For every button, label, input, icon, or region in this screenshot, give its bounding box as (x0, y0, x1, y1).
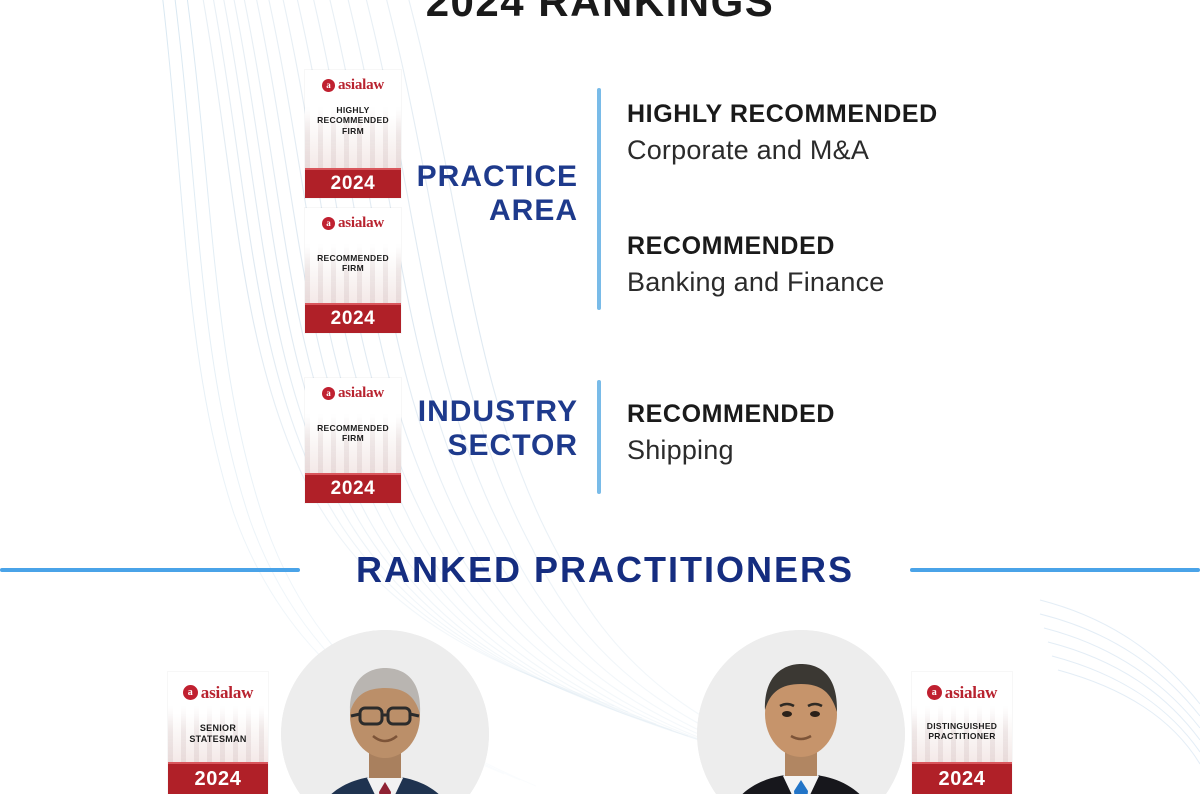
ranking-name: Shipping (627, 434, 835, 466)
asialaw-logo: a asialaw (927, 684, 997, 701)
ranking-entry-corporate-manda: HIGHLY RECOMMENDED Corporate and M&A (627, 100, 938, 166)
category-label-line-1: PRACTICE (330, 160, 578, 194)
category-label-line-2: AREA (330, 194, 578, 228)
asialaw-logo-wordmark: asialaw (945, 684, 997, 701)
practitioner-portrait-1 (281, 630, 489, 794)
header-rule-right (910, 568, 1200, 572)
practitioner-portrait-2 (697, 630, 905, 794)
badge-distinguished-practitioner: a asialaw DISTINGUISHEDPRACTITIONER 2024 (912, 672, 1012, 794)
badge-year: 2024 (912, 762, 1012, 794)
badge-label: SENIORSTATESMAN (189, 723, 246, 745)
section-title: RANKED PRACTITIONERS (300, 549, 910, 591)
asialaw-logo: a asialaw (183, 684, 253, 701)
page-title: 2024 RANKINGS (0, 0, 1200, 26)
asialaw-logo-mark: a (183, 685, 198, 700)
category-label-line-2: SECTOR (330, 429, 578, 463)
badge-label: HIGHLYRECOMMENDEDFIRM (317, 105, 389, 136)
asialaw-logo: a asialaw (322, 78, 384, 93)
asialaw-logo-wordmark: asialaw (338, 78, 384, 93)
badge-body: a asialaw SENIORSTATESMAN (168, 672, 268, 762)
category-label-industry-sector: INDUSTRY SECTOR (330, 395, 578, 462)
ranking-tier: RECOMMENDED (627, 232, 884, 261)
ranking-tier: HIGHLY RECOMMENDED (627, 100, 938, 129)
category-label-line-1: INDUSTRY (330, 395, 578, 429)
category-label-practice-area: PRACTICE AREA (330, 160, 578, 227)
ranking-entry-shipping: RECOMMENDED Shipping (627, 400, 835, 466)
badge-body: a asialaw DISTINGUISHEDPRACTITIONER (912, 672, 1012, 762)
header-rule-left (0, 568, 300, 572)
badge-label: DISTINGUISHEDPRACTITIONER (927, 721, 998, 742)
ranking-entry-banking-finance: RECOMMENDED Banking and Finance (627, 232, 884, 298)
badge-year: 2024 (305, 303, 401, 333)
ranking-name: Corporate and M&A (627, 134, 938, 166)
divider-practice-area (597, 88, 601, 310)
asialaw-logo-mark: a (322, 79, 335, 92)
divider-industry-sector (597, 380, 601, 494)
ranking-infographic: 2024 RANKINGS a asialaw HIGHLYRECOMMENDE… (0, 0, 1200, 794)
badge-body: a asialaw HIGHLYRECOMMENDEDFIRM (305, 70, 401, 168)
badge-year: 2024 (168, 762, 268, 794)
asialaw-logo-wordmark: asialaw (201, 684, 253, 701)
section-header-ranked-practitioners: RANKED PRACTITIONERS (0, 545, 1200, 595)
badge-label: RECOMMENDEDFIRM (317, 253, 389, 274)
badge-senior-statesman: a asialaw SENIORSTATESMAN 2024 (168, 672, 268, 794)
ranking-tier: RECOMMENDED (627, 400, 835, 429)
asialaw-logo-mark: a (927, 685, 942, 700)
ranking-name: Banking and Finance (627, 266, 884, 298)
badge-year: 2024 (305, 473, 401, 503)
